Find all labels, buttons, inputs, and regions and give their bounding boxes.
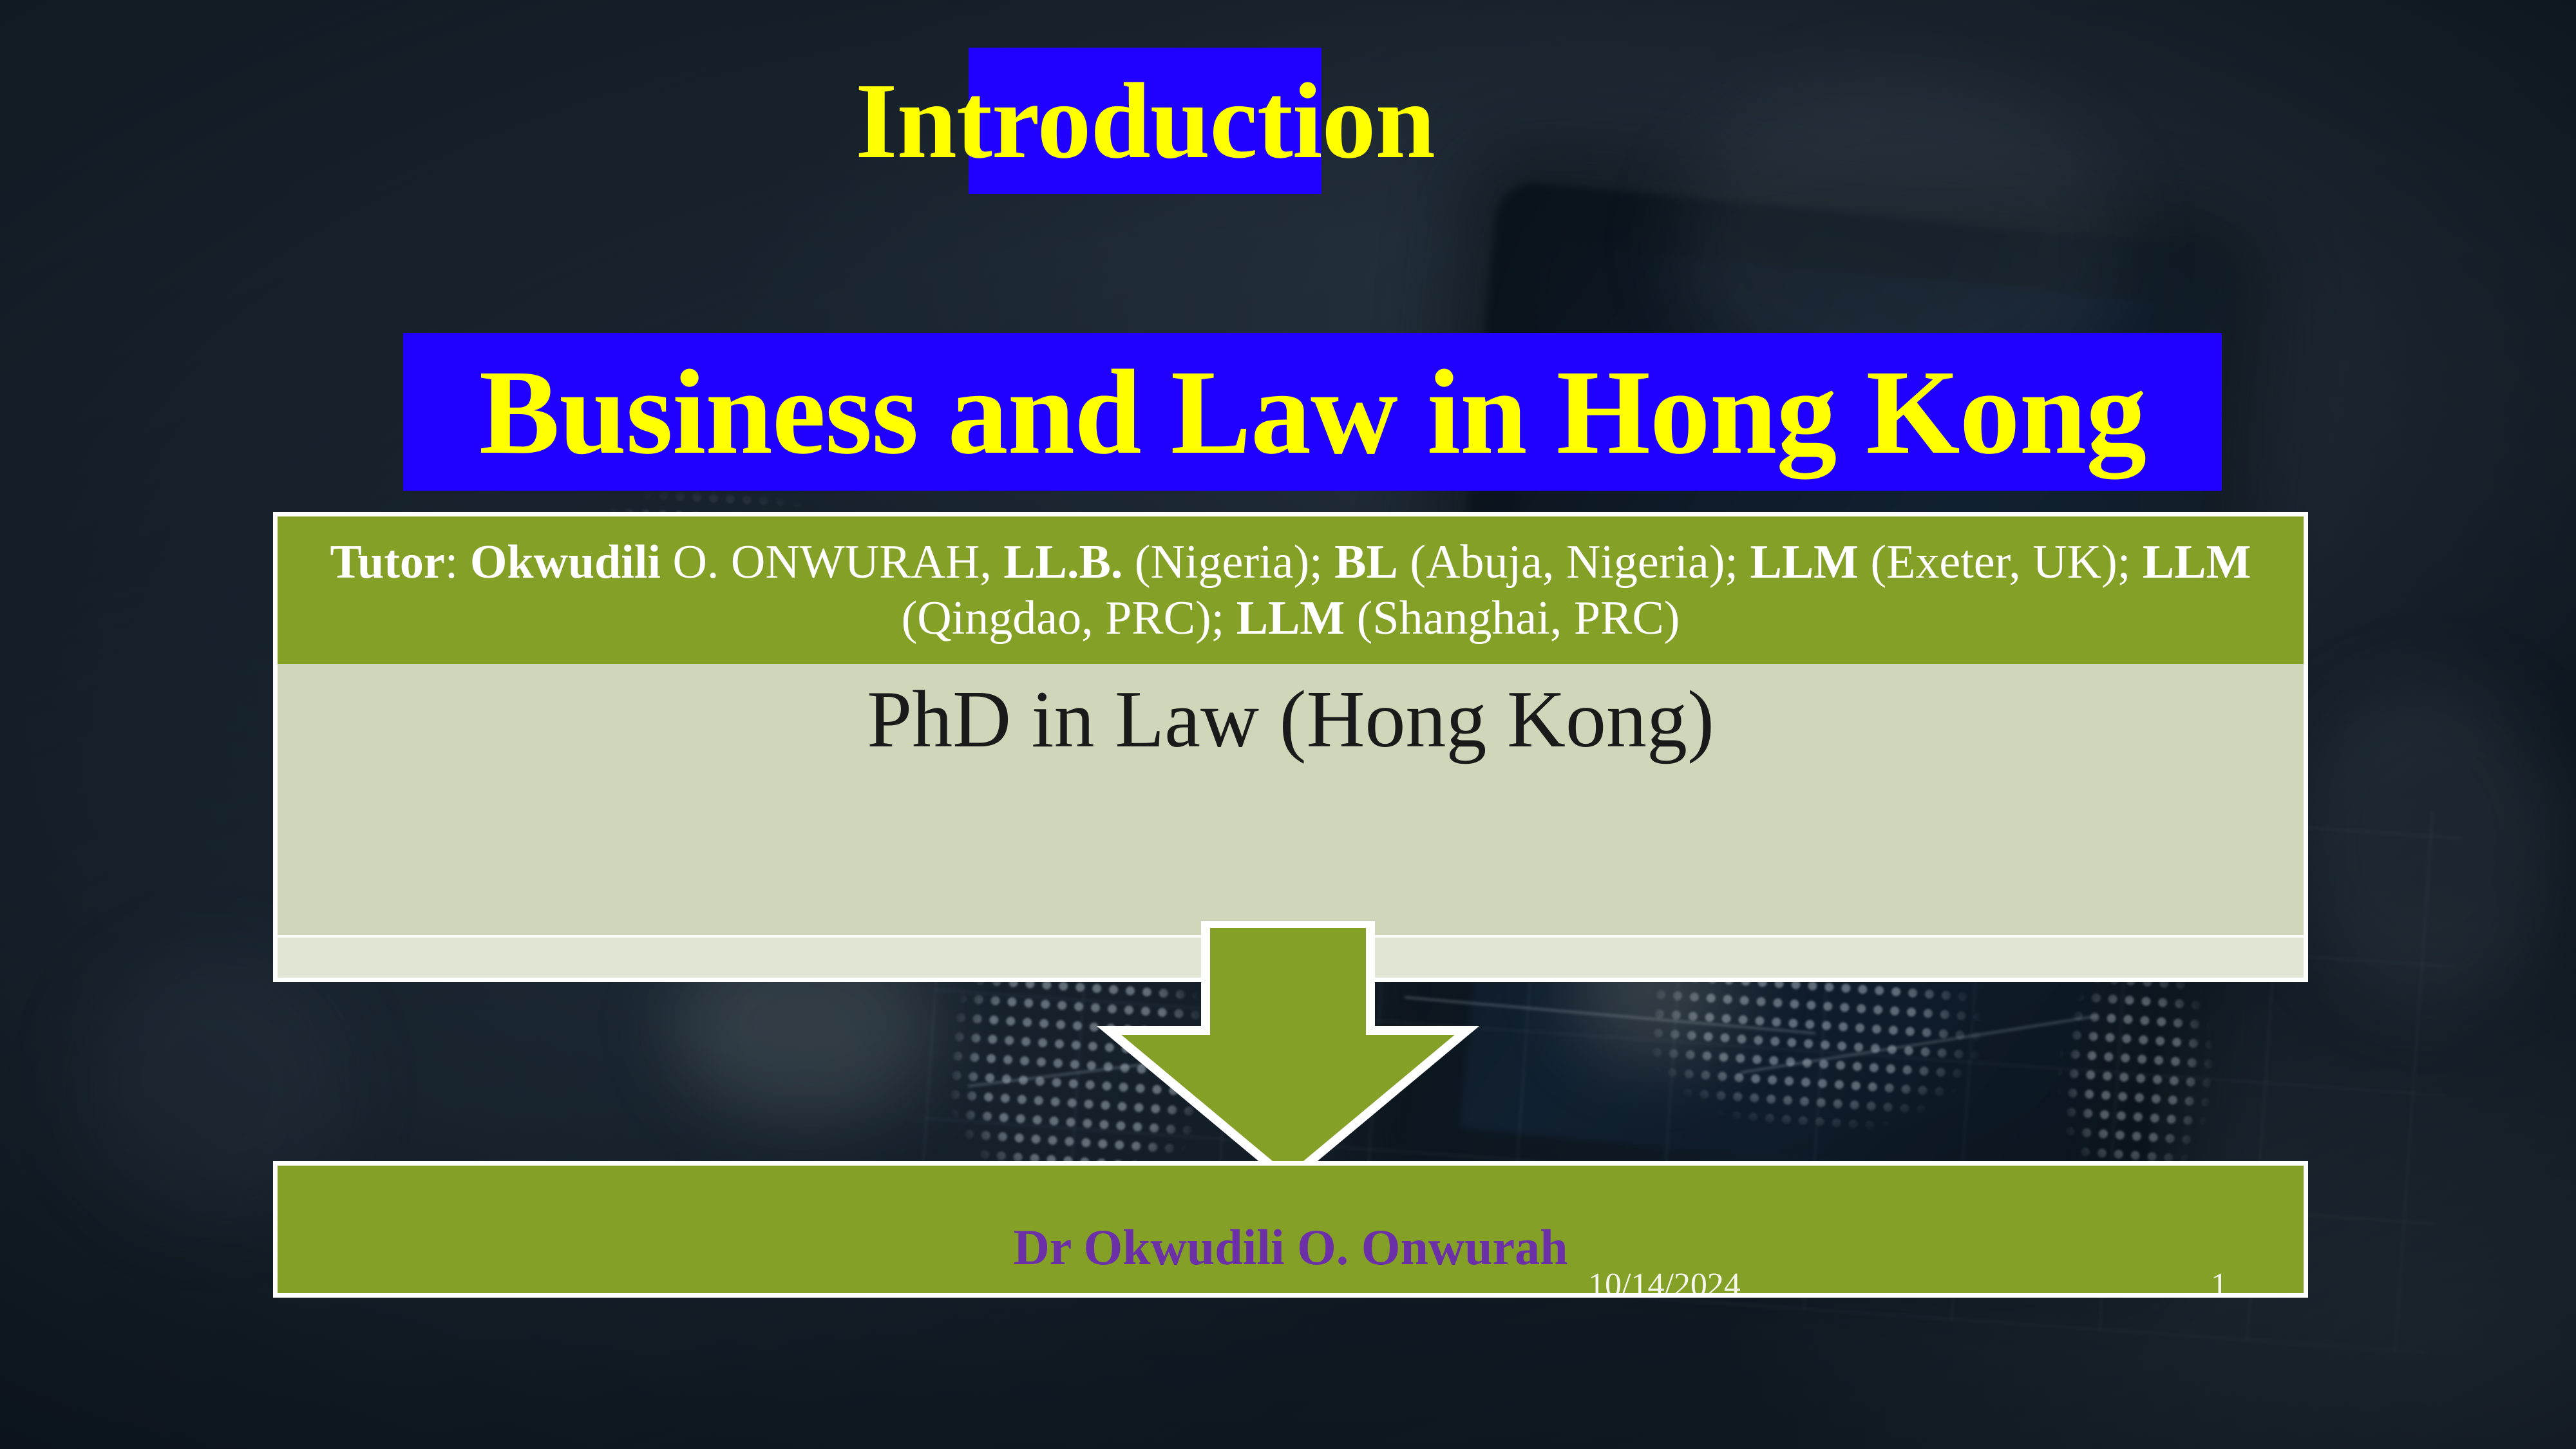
footer-bar: Dr Okwudili O. Onwurah 10/14/2024 1 <box>273 1161 2308 1298</box>
credentials-label: Tutor <box>330 536 445 589</box>
content-box: Tutor: Okwudili O. ONWURAH, LL.B. (Niger… <box>273 512 2308 982</box>
presenter-name: Dr Okwudili O. Onwurah <box>278 1222 2304 1273</box>
footer-date: 10/14/2024 <box>1588 1269 1741 1298</box>
tutor-rest-name: O. ONWURAH, <box>661 536 1003 589</box>
degree-bl: BL <box>1334 536 1398 589</box>
down-arrow-shape <box>1095 921 1481 1185</box>
background-light-blur <box>2293 683 2563 1005</box>
phd-area: PhD in Law (Hong Kong) <box>278 664 2304 895</box>
degree-llm-exeter: LLM <box>1750 536 1859 589</box>
degree-llm-qingdao: LLM <box>2143 536 2251 589</box>
tutor-credentials-line: Tutor: Okwudili O. ONWURAH, LL.B. (Niger… <box>278 516 2304 664</box>
degree-bl-place: (Abuja, Nigeria); <box>1398 536 1750 589</box>
slide-title: Introduction <box>969 48 1321 194</box>
phd-qualification-line: PhD in Law (Hong Kong) <box>867 676 1714 765</box>
degree-llm-qingdao-place: (Qingdao, PRC); <box>902 592 1236 645</box>
degree-llm-shanghai: LLM <box>1236 592 1345 645</box>
footer-slide-number: 1 <box>2211 1269 2228 1298</box>
slide-subtitle: Business and Law in Hong Kong <box>403 333 2222 491</box>
credentials-separator: : <box>445 536 470 589</box>
tutor-first-name: Okwudili <box>470 536 661 589</box>
degree-llm-exeter-place: (Exeter, UK); <box>1859 536 2143 589</box>
presentation-slide: Introduction Business and Law in Hong Ko… <box>0 0 2576 1449</box>
degree-llb: LL.B. <box>1003 536 1122 589</box>
degree-llb-place: (Nigeria); <box>1122 536 1334 589</box>
degree-llm-shanghai-place: (Shanghai, PRC) <box>1345 592 1680 645</box>
